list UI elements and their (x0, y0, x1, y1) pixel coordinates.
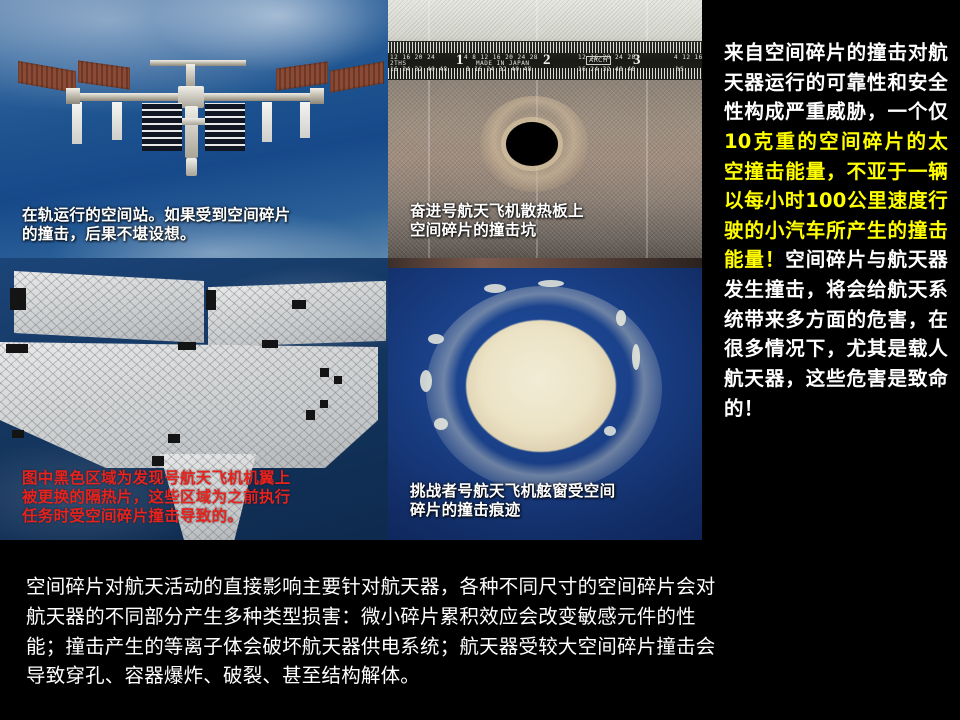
photo-challenger-window-pit: 挑战者号航天飞机舷窗受空间 碎片的撞击痕迹 (388, 258, 702, 540)
debris-fleck (484, 284, 506, 293)
ruler-number-1: 1 (456, 52, 464, 69)
wing-panel-upper-right (208, 281, 386, 347)
debris-fleck (632, 344, 640, 370)
replaced-tile (168, 434, 180, 443)
replaced-tile (262, 340, 278, 348)
window-frame-strip (388, 258, 702, 268)
bottom-text-block: 空间碎片对航天活动的直接影响主要针对航天器，各种不同尺寸的空间碎片会对航天器的不… (26, 572, 726, 691)
replaced-tile (6, 344, 28, 353)
replaced-tile (12, 430, 24, 438)
debris-fleck (420, 370, 432, 392)
ruler-brand-label: ARCH (586, 56, 611, 65)
replaced-tile (334, 376, 342, 384)
replaced-tile (206, 290, 216, 310)
impact-crater-hole (506, 122, 558, 166)
photo-caption: 在轨运行的空间站。如果受到空间碎片 的撞击，后果不堪设想。 (22, 206, 291, 244)
replaced-tile (10, 288, 26, 310)
replaced-tile (292, 300, 306, 309)
replaced-tile (320, 400, 328, 408)
right-text-part-3: 空间碎片与航天器发生撞击，将会给航天系统带来多方面的危害，在很多情况下，尤其是载… (724, 248, 948, 419)
photo-discovery-wing-tiles: 图中黑色区域为发现号航天飞机机翼上 被更换的隔热片，这些区域为之前执行 任务时受… (0, 258, 388, 540)
debris-fleck (538, 280, 564, 287)
ruler-number-2: 2 (543, 52, 551, 69)
panel-seam (646, 0, 648, 258)
photo-caption: 奋进号航天飞机散热板上 空间碎片的撞击坑 (410, 202, 584, 240)
debris-fleck (616, 310, 626, 326)
photo-grid: 在轨运行的空间站。如果受到空间碎片 的撞击，后果不堪设想。 12 16 20 2… (0, 0, 702, 540)
replaced-tile (152, 456, 164, 466)
wing-panel-upper-left (14, 271, 204, 343)
debris-fleck (434, 418, 448, 430)
replaced-tile (306, 410, 315, 420)
photo-endeavour-radiator-crater: 12 16 20 24 2THS 16 24 32 40 48 4 8 12 1… (388, 0, 702, 258)
slide-canvas: 在轨运行的空间站。如果受到空间碎片 的撞击，后果不堪设想。 12 16 20 2… (0, 0, 960, 720)
measuring-ruler: 12 16 20 24 2THS 16 24 32 40 48 4 8 12 1… (388, 41, 702, 80)
photo-caption: 图中黑色区域为发现号航天飞机机翼上 被更换的隔热片，这些区域为之前执行 任务时受… (22, 469, 291, 526)
ruler-number-3: 3 (633, 52, 641, 69)
debris-fleck (604, 426, 616, 436)
replaced-tile (320, 368, 329, 377)
right-text-block: 来自空间碎片的撞击对航天器运行的可靠性和安全性构成严重威胁，一个仅10克重的空间… (724, 38, 948, 423)
debris-fleck (428, 334, 444, 344)
right-text-part-1: 来自空间碎片的撞击对航天器运行的可靠性和安全性构成严重威胁，一个仅 (724, 41, 948, 123)
photo-space-station-in-orbit: 在轨运行的空间站。如果受到空间碎片 的撞击，后果不堪设想。 (0, 0, 388, 258)
photo-caption: 挑战者号航天飞机舷窗受空间 碎片的撞击痕迹 (410, 482, 615, 520)
replaced-tile (178, 342, 196, 350)
impact-pit-core (466, 320, 616, 452)
